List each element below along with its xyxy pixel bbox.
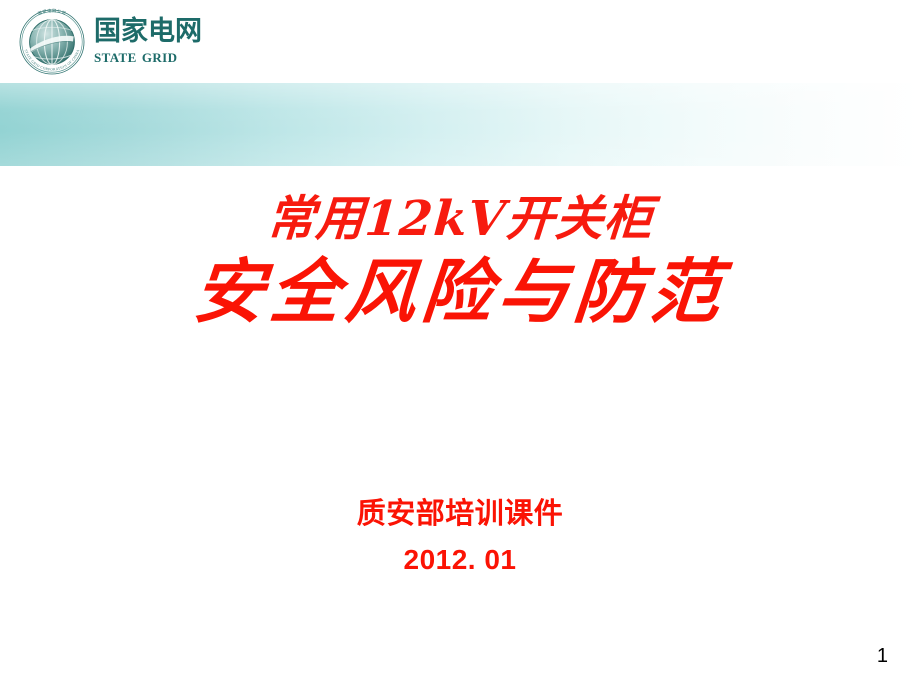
state-grid-logo: 国家电网公司 STATE GRID CORPORATION OF CHINA: [16, 4, 231, 80]
slide-title: 常用12kV开关柜 安全风险与防范: [0, 192, 920, 331]
brand-name-chinese: 国家电网: [94, 18, 202, 46]
subtitle-department: 质安部培训课件: [0, 496, 920, 531]
page-number: 1: [877, 646, 888, 666]
decorative-gradient-band: [0, 83, 920, 166]
presentation-slide: 国家电网公司 STATE GRID CORPORATION OF CHINA: [0, 0, 920, 690]
state-grid-globe-emblem: 国家电网公司 STATE GRID CORPORATION OF CHINA: [16, 6, 88, 78]
state-grid-wordmark: 国家电网 State Grid: [94, 16, 202, 67]
brand-name-english: State Grid: [94, 46, 202, 68]
svg-text:国家电网公司: 国家电网公司: [37, 7, 67, 16]
band-sheen-overlay: [0, 83, 920, 166]
subtitle-date: 2012. 01: [0, 543, 920, 577]
slide-subtitle: 质安部培训课件 2012. 01: [0, 496, 920, 578]
title-line-1: 常用12kV开关柜: [0, 192, 920, 248]
title-line-2: 安全风险与防范: [0, 252, 920, 332]
